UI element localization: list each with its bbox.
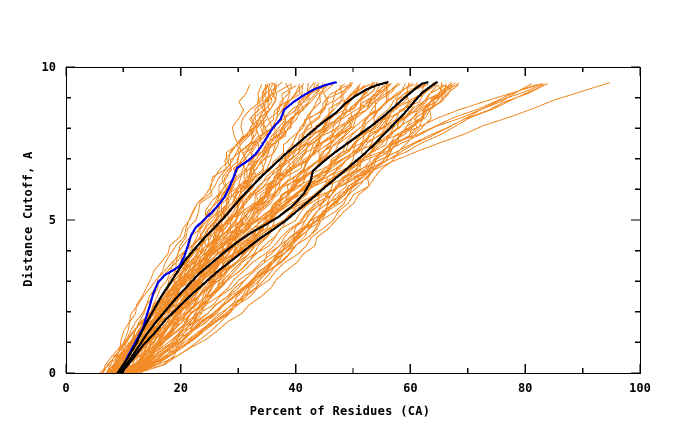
bulk-curve xyxy=(136,84,544,373)
bulk-curve-group xyxy=(100,82,610,373)
clip-rect xyxy=(0,0,680,67)
y-tick-label: 5 xyxy=(0,213,56,227)
x-tick-label: 60 xyxy=(403,381,417,395)
x-tick-label: 80 xyxy=(518,381,532,395)
x-axis-label: Percent of Residues (CA) xyxy=(0,404,680,418)
x-tick-label: 20 xyxy=(174,381,188,395)
y-tick-label: 0 xyxy=(0,366,56,380)
x-tick-label: 0 xyxy=(62,381,69,395)
x-tick-label: 100 xyxy=(629,381,651,395)
plot-canvas xyxy=(0,0,680,440)
bulk-curve xyxy=(136,86,352,373)
chart-root: T0991-D1 Distance Cutoff, A Percent of R… xyxy=(0,0,680,440)
bulk-curve xyxy=(125,83,610,373)
clip-rect xyxy=(641,0,680,440)
x-tick-label: 40 xyxy=(288,381,302,395)
y-tick-label: 10 xyxy=(0,60,56,74)
